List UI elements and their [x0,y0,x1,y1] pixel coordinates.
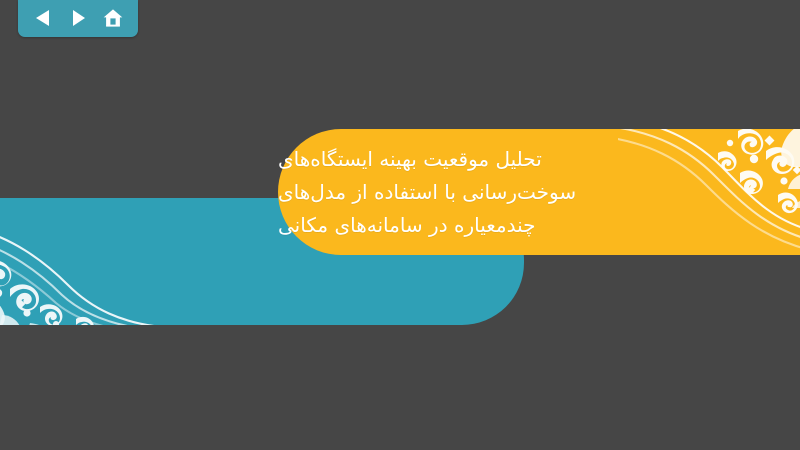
home-button[interactable] [100,5,126,31]
triangle-right-icon [69,8,87,28]
arabesque-ornament-bottom-left [0,198,170,325]
orange-title-panel [278,129,800,255]
triangle-left-icon [34,8,52,28]
home-icon [102,7,124,29]
navigation-bar [18,0,138,37]
arabesque-ornament-top-right [618,129,800,255]
back-button[interactable] [30,5,56,31]
forward-button[interactable] [65,5,91,31]
